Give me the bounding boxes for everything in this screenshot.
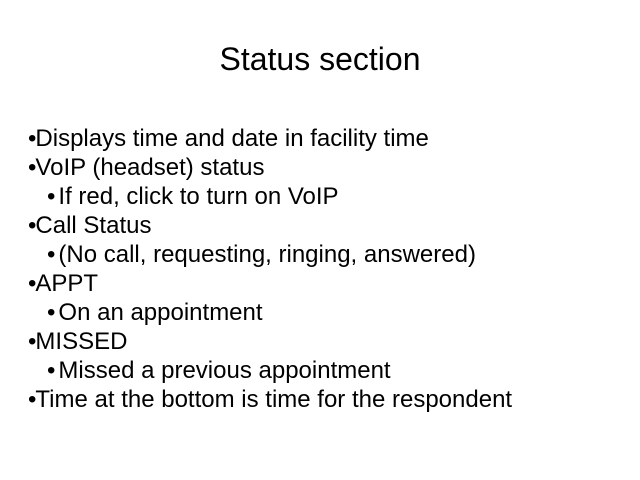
- list-item: •Displays time and date in facility time: [28, 124, 628, 153]
- bullet-list: •Displays time and date in facility time…: [28, 124, 628, 414]
- list-item: •MISSED: [28, 327, 628, 356]
- list-item-label: Time at the bottom is time for the respo…: [35, 386, 512, 413]
- slide-canvas: Status section •Displays time and date i…: [0, 0, 640, 480]
- list-item: •(No call, requesting, ringing, answered…: [28, 240, 628, 269]
- list-item: •APPT: [28, 269, 628, 298]
- list-item: •On an appointment: [28, 298, 628, 327]
- list-item-label: Call Status: [35, 212, 151, 239]
- list-item-label: Displays time and date in facility time: [35, 125, 429, 152]
- list-item: •If red, click to turn on VoIP: [28, 182, 628, 211]
- page-title: Status section: [0, 40, 640, 78]
- list-item: •Missed a previous appointment: [28, 356, 628, 385]
- list-item-label: On an appointment: [55, 299, 262, 326]
- list-item-label: Missed a previous appointment: [55, 357, 390, 384]
- list-item: •Time at the bottom is time for the resp…: [28, 385, 628, 414]
- list-item: •VoIP (headset) status: [28, 153, 628, 182]
- list-item-label: VoIP (headset) status: [35, 154, 264, 181]
- list-item-label: APPT: [35, 270, 98, 297]
- list-item: •Call Status: [28, 211, 628, 240]
- list-item-label: (No call, requesting, ringing, answered): [55, 241, 476, 268]
- list-item-label: If red, click to turn on VoIP: [55, 183, 338, 210]
- list-item-label: MISSED: [35, 328, 127, 355]
